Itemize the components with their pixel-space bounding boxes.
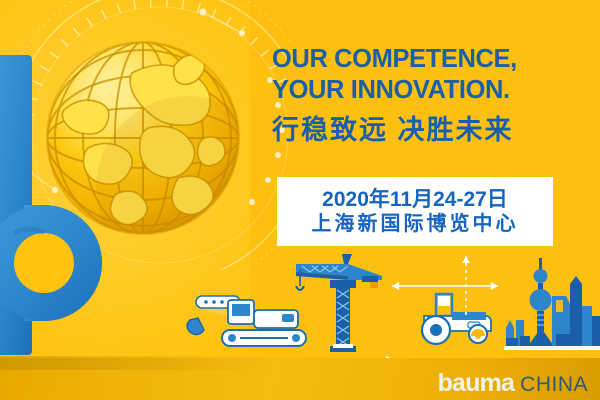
excavator-icon: [187, 296, 306, 346]
bauma-china-banner: OUR COMPETENCE, YOUR INNOVATION. 行稳致远 决胜…: [0, 0, 600, 400]
tower-crane-icon: [296, 254, 382, 352]
measure-arrows-icon: [392, 256, 498, 316]
headline-line3-chinese: 行稳致远 决胜未来: [272, 112, 592, 148]
globe-icon: [28, 18, 258, 258]
bauma-china-logo: bauma CHINA: [438, 370, 588, 396]
headline-line2: YOUR INNOVATION.: [272, 75, 592, 106]
road-roller-icon: [422, 294, 491, 344]
headline-block: OUR COMPETENCE, YOUR INNOVATION. 行稳致远 决胜…: [272, 44, 592, 148]
event-venue: 上海新国际博览中心: [312, 212, 519, 237]
shanghai-skyline-icon: [504, 258, 600, 365]
machinery-illustration: [0, 250, 600, 365]
bottom-band-sheen: [0, 356, 270, 370]
headline-line1: OUR COMPETENCE,: [272, 44, 592, 75]
logo-bauma-text: bauma: [438, 370, 515, 396]
logo-china-text: CHINA: [520, 374, 588, 396]
date-venue-panel: 2020年11月24-27日 上海新国际博览中心: [277, 177, 553, 246]
event-date: 2020年11月24-27日: [322, 187, 508, 212]
